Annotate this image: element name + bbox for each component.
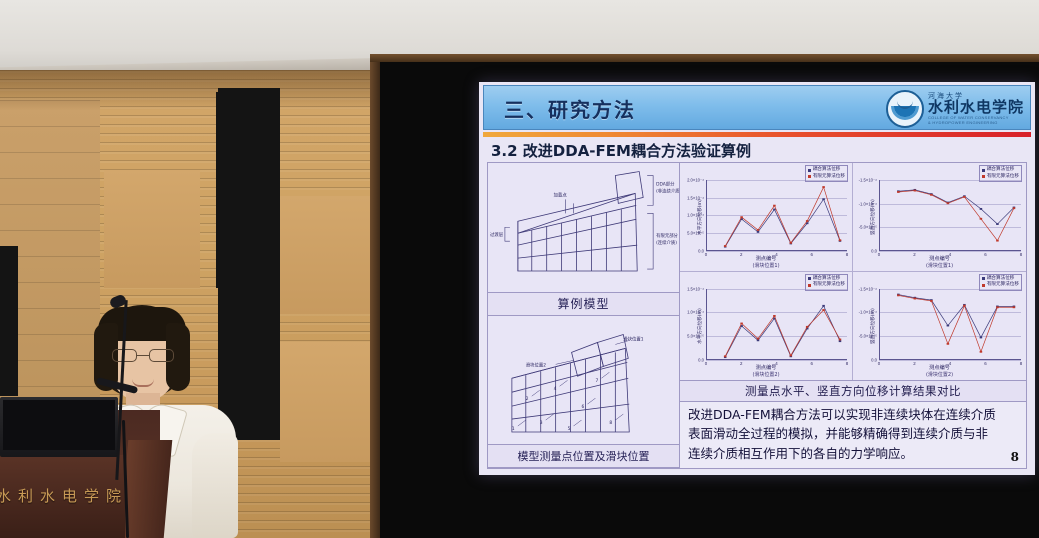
chart-series-layer: [706, 289, 847, 361]
chart-x-axis-sublabel: (滑块位置1): [853, 262, 1026, 269]
chart-y-tick-label: 5.0×10⁻⁵: [687, 230, 704, 235]
chart-series-layer: [879, 180, 1021, 251]
chart-series-line: [898, 294, 1014, 337]
wall-dark-insert-left: [0, 246, 18, 396]
chart-data-point: [839, 239, 842, 241]
projected-slide: 三、研究方法 河海大学 水利水电学院 COLLEGE OF WATER CONS…: [479, 82, 1035, 475]
measure-points-drawing: 12 34 56 78 滑块位置1 滑块位置2: [488, 316, 679, 445]
chart-data-point: [947, 202, 950, 204]
university-logo: 河海大学 水利水电学院 COLLEGE OF WATER CONSERVANCY…: [886, 88, 1024, 130]
figure-model-mesh: DDA部分 (非连续介质) 有限元部分 (连续介质) 过渡层 加载点: [488, 163, 679, 292]
legend-marker-icon: [808, 169, 811, 172]
legend-marker-icon: [982, 284, 985, 287]
label-fem-part-line2: (连续介质): [656, 239, 677, 246]
chart-series-layer: [879, 289, 1021, 361]
chart-series-line: [725, 199, 840, 246]
chart-x-axis-sublabel: (滑块位置2): [680, 371, 852, 378]
chart-y-tick-label: -5.0×10⁻⁵: [859, 225, 877, 230]
chart-data-point: [980, 336, 983, 338]
legend-marker-icon: [982, 277, 985, 280]
chart-plot-area: 0.05.0×10⁻⁵1.0×10⁻⁴1.5×10⁻⁴2.0×10⁻⁴02468: [706, 180, 847, 251]
chart-data-point: [897, 191, 900, 193]
legend-marker-icon: [982, 175, 985, 178]
chart-data-point: [757, 339, 760, 341]
svg-text:5: 5: [568, 425, 571, 431]
lectern-engraved-text: 水利水电学院: [0, 485, 136, 506]
chart-series-line: [898, 191, 1014, 241]
chart-data-point: [773, 314, 776, 316]
chart-series-layer: [706, 180, 847, 251]
chart-x-axis-sublabel: (滑块位置2): [853, 371, 1026, 378]
svg-text:1: 1: [512, 425, 515, 431]
chart-3: 耦合算法位移有限元算法位移水平方向位移(m)0.05.0×10⁻⁵1.0×10⁻…: [680, 272, 853, 381]
chart-data-point: [822, 304, 825, 306]
svg-text:2: 2: [526, 396, 529, 402]
chart-data-point: [822, 309, 825, 311]
svg-text:3: 3: [540, 420, 543, 426]
legend-marker-icon: [808, 277, 811, 280]
chart-data-point: [757, 337, 760, 339]
logo-english-line2: & HYDROPOWER ENGINEERING: [928, 121, 1024, 125]
chart-grid: 耦合算法位移有限元算法位移水平方向位移(m)0.05.0×10⁻⁵1.0×10⁻…: [680, 163, 1026, 380]
chart-2: 耦合算法位移有限元算法位移竖直方向位移(m)0.0-5.0×10⁻⁵-1.0×1…: [853, 163, 1026, 272]
conclusion-line-1: 改进DDA-FEM耦合方法可以实现非连续块体在连续介质: [688, 405, 1018, 424]
conclusion-text: 改进DDA-FEM耦合方法可以实现非连续块体在连续介质 表面滑动全过程的模拟，并…: [680, 402, 1026, 468]
chart-data-point: [980, 350, 983, 352]
chart-y-tick-label: -5.0×10⁻⁵: [859, 334, 877, 339]
label-dda-part-line1: DDA部分: [656, 180, 675, 187]
chart-y-tick-label: 0.0: [871, 248, 877, 253]
chart-data-point: [806, 325, 809, 327]
charts-caption: 测量点水平、竖直方向位移计算结果对比: [680, 380, 1026, 402]
chart-y-tick-label: 1.5×10⁻⁴: [687, 195, 704, 200]
chart-1: 耦合算法位移有限元算法位移水平方向位移(m)0.05.0×10⁻⁵1.0×10⁻…: [680, 163, 853, 272]
slide-section-title: 3.2 改进DDA-FEM耦合方法验证算例: [491, 140, 751, 161]
legend-entry: 耦合算法位移: [982, 167, 1019, 174]
svg-text:8: 8: [609, 420, 612, 426]
laptop-screen: [3, 400, 115, 450]
legend-marker-icon: [982, 169, 985, 172]
chart-data-point: [757, 231, 760, 233]
presentation-scene: 三、研究方法 河海大学 水利水电学院 COLLEGE OF WATER CONS…: [0, 0, 1039, 538]
wall-panel-a: [104, 170, 200, 288]
chart-x-axis-label: 测点编号: [680, 255, 852, 262]
chart-data-point: [980, 208, 983, 210]
figure-points-caption: 模型测量点位置及滑块位置: [488, 444, 679, 468]
slide-header-band: 三、研究方法 河海大学 水利水电学院 COLLEGE OF WATER CONS…: [483, 85, 1031, 130]
chart-data-point: [822, 186, 825, 188]
legend-label: 耦合算法位移: [987, 167, 1015, 174]
laptop[interactable]: [0, 397, 118, 457]
chart-series-line: [898, 190, 1014, 224]
chart-data-point: [790, 242, 793, 244]
legend-marker-icon: [808, 284, 811, 287]
legend-marker-icon: [808, 175, 811, 178]
chart-y-tick-label: 0.0: [698, 248, 704, 253]
logo-college-name: 水利水电学院: [928, 100, 1024, 115]
chart-y-tick-label: 5.0×10⁻⁵: [687, 334, 704, 339]
left-figure-column: DDA部分 (非连续介质) 有限元部分 (连续介质) 过渡层 加载点 算例模型: [488, 163, 680, 468]
chart-y-tick-label: -1.0×10⁻⁴: [859, 201, 877, 206]
chart-y-tick-label: -1.0×10⁻⁴: [859, 310, 877, 315]
chart-data-point: [947, 324, 950, 326]
label-fem-part-line1: 有限元部分: [656, 232, 678, 239]
chart-y-tick-label: 0.0: [871, 358, 877, 363]
chart-data-point: [757, 229, 760, 231]
chart-data-point: [839, 338, 842, 340]
chart-y-tick-label: -1.5×10⁻⁴: [859, 286, 877, 291]
conclusion-line-2: 表面滑动全过程的模拟，并能够精确得到连续介质与非: [688, 424, 1018, 443]
chart-data-point: [740, 322, 743, 324]
label-transition-layer: 过渡层: [490, 231, 504, 238]
chart-y-tick-label: 2.0×10⁻⁴: [687, 178, 704, 183]
chart-x-axis-label: 测点编号: [680, 364, 852, 371]
chart-data-point: [897, 294, 900, 296]
chart-data-point: [822, 198, 825, 200]
chart-data-point: [773, 209, 776, 211]
legend-label: 耦合算法位移: [813, 167, 841, 174]
chart-data-point: [724, 355, 727, 357]
chart-data-point: [980, 218, 983, 220]
chart-y-tick-label: 0.0: [698, 358, 704, 363]
chart-y-tick-label: 1.5×10⁻⁴: [687, 286, 704, 291]
chart-plot-area: 0.05.0×10⁻⁵1.0×10⁻⁴1.5×10⁻⁴02468: [706, 289, 847, 361]
chart-series-line: [898, 295, 1014, 351]
label-block-position-1: 滑块位置1: [623, 335, 643, 342]
chart-data-point: [790, 354, 793, 356]
chart-data-point: [947, 342, 950, 344]
conclusion-line-3: 连续介质相互作用下的各自的力学响应。: [688, 444, 1018, 463]
chart-data-point: [914, 190, 917, 192]
chart-y-tick-label: 1.0×10⁻⁴: [687, 213, 704, 218]
slide-page-number: 8: [1011, 448, 1019, 467]
label-dda-part-line2: (非连续介质): [656, 187, 679, 194]
legend-entry: 耦合算法位移: [808, 167, 845, 174]
presenter-arm-right: [192, 433, 238, 538]
right-charts-column: 耦合算法位移有限元算法位移水平方向位移(m)0.05.0×10⁻⁵1.0×10⁻…: [680, 163, 1026, 468]
chart-series-line: [725, 305, 840, 356]
chart-x-axis-label: 测点编号: [853, 255, 1026, 262]
svg-text:4: 4: [554, 386, 557, 392]
hohai-seal-icon: [886, 90, 924, 128]
chart-data-point: [1013, 207, 1016, 209]
chart-series-line: [725, 310, 840, 356]
figure-measure-points: 12 34 56 78 滑块位置1 滑块位置2: [488, 316, 679, 445]
chart-y-tick-label: -1.5×10⁻⁴: [859, 178, 877, 183]
model-mesh-drawing: DDA部分 (非连续介质) 有限元部分 (连续介质) 过渡层 加载点: [488, 163, 679, 292]
chart-data-point: [930, 194, 933, 196]
label-block-position-2: 滑块位置2: [526, 361, 546, 368]
slide-content-table: DDA部分 (非连续介质) 有限元部分 (连续介质) 过渡层 加载点 算例模型: [487, 162, 1027, 469]
chart-data-point: [996, 223, 999, 225]
chart-data-point: [1013, 306, 1016, 308]
chart-data-point: [996, 240, 999, 242]
chart-data-point: [963, 196, 966, 198]
chart-data-point: [740, 216, 743, 218]
chart-4: 耦合算法位移有限元算法位移竖直方向位移(m)0.0-5.0×10⁻⁵-1.0×1…: [853, 272, 1026, 381]
chart-x-axis-label: 测点编号: [853, 364, 1026, 371]
chart-data-point: [773, 205, 776, 207]
chart-data-point: [806, 220, 809, 222]
chart-plot-area: 0.0-5.0×10⁻⁵-1.0×10⁻⁴-1.5×10⁻⁴02468: [879, 180, 1021, 251]
svg-text:6: 6: [582, 404, 585, 410]
chart-data-point: [839, 340, 842, 342]
slide-title: 三、研究方法: [504, 94, 636, 123]
svg-text:7: 7: [595, 378, 598, 384]
chart-data-point: [914, 297, 917, 299]
label-load-point: 加载点: [554, 191, 568, 198]
chart-data-point: [724, 245, 727, 247]
chart-plot-area: 0.0-5.0×10⁻⁵-1.0×10⁻⁴-1.5×10⁻⁴02468: [879, 289, 1021, 361]
chart-data-point: [963, 304, 966, 306]
slide-accent-rule: [483, 132, 1031, 137]
chart-x-axis-sublabel: (滑块位置1): [680, 262, 852, 269]
chart-data-point: [930, 299, 933, 301]
figure-model-caption: 算例模型: [488, 292, 679, 316]
chart-y-tick-label: 1.0×10⁻⁴: [687, 310, 704, 315]
chart-data-point: [996, 306, 999, 308]
